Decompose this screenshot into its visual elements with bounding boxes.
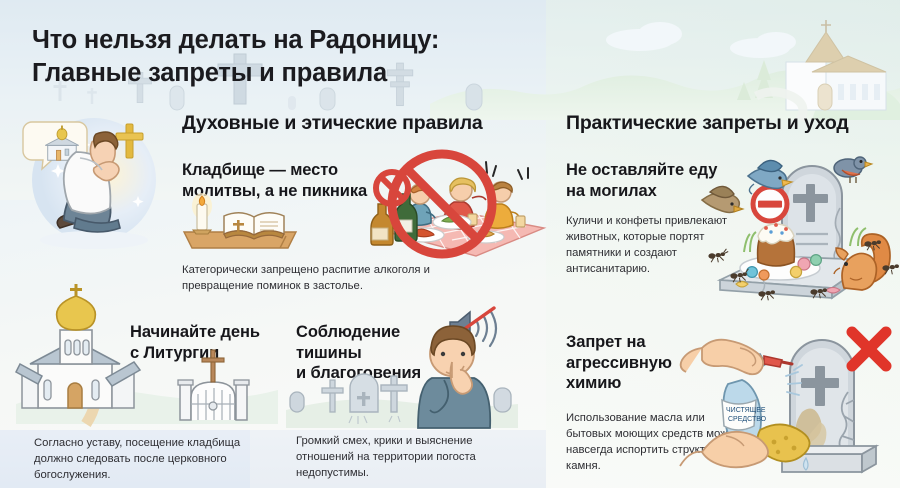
gate-cross-icon	[202, 350, 224, 382]
grave-with-food-illustration	[700, 148, 900, 300]
prohibition-sign-icon	[753, 187, 787, 221]
spray-nozzle	[764, 356, 782, 367]
orthodox-church-icon	[16, 284, 140, 408]
page-title-line1: Что нельзя делать на Радоницу:	[32, 24, 532, 57]
section-header-practical: Практические запреты и уход	[566, 112, 849, 135]
open-bible-icon	[224, 213, 284, 239]
bird-icon	[834, 157, 872, 183]
block-body: Категорически запрещено распитие алкогол…	[182, 262, 482, 294]
silence-illustration	[286, 318, 518, 428]
bird-icon	[702, 186, 743, 212]
page-title-line2: Главные запреты и правила	[32, 57, 532, 90]
block-title: Запрет наагрессивнуюхимию	[566, 332, 716, 394]
church-and-gate-illustration	[16, 292, 278, 424]
candle-and-bible-illustration	[180, 192, 302, 250]
ground-shadow	[40, 231, 148, 249]
infographic-root: Что нельзя делать на Радоницу: Главные з…	[0, 0, 900, 488]
background-church-icon	[786, 20, 886, 110]
block-body: Согласно уставу, посещение кладбища долж…	[34, 435, 274, 483]
cloud-icon	[606, 22, 796, 96]
section-header-spiritual: Духовные и этические правила	[182, 112, 483, 135]
easter-cake-icon	[758, 223, 795, 266]
bottle-label	[722, 400, 756, 430]
bottle-label-line2: СРЕДСТВО	[728, 416, 767, 423]
church-door-icon	[68, 383, 82, 408]
block-body: Громкий смех, крики и выяснение отношени…	[296, 433, 516, 481]
cemetery-gate-icon	[178, 350, 249, 420]
bottle-label-line1: ЧИСТЯЩЕЕ	[726, 407, 766, 414]
prohibited-picnic-illustration	[368, 142, 550, 264]
shushing-man-figure	[418, 326, 490, 428]
candle-icon	[192, 193, 212, 234]
tree-icon	[737, 60, 773, 100]
golden-dome-icon	[57, 296, 96, 330]
cleaning-grave-illustration: ЧИСТЯЩЕЕ СРЕДСТВО	[702, 326, 898, 482]
praying-man-illustration	[14, 100, 174, 275]
red-x-mark-icon	[852, 332, 886, 366]
page-title: Что нельзя делать на Радоницу: Главные з…	[32, 24, 532, 90]
